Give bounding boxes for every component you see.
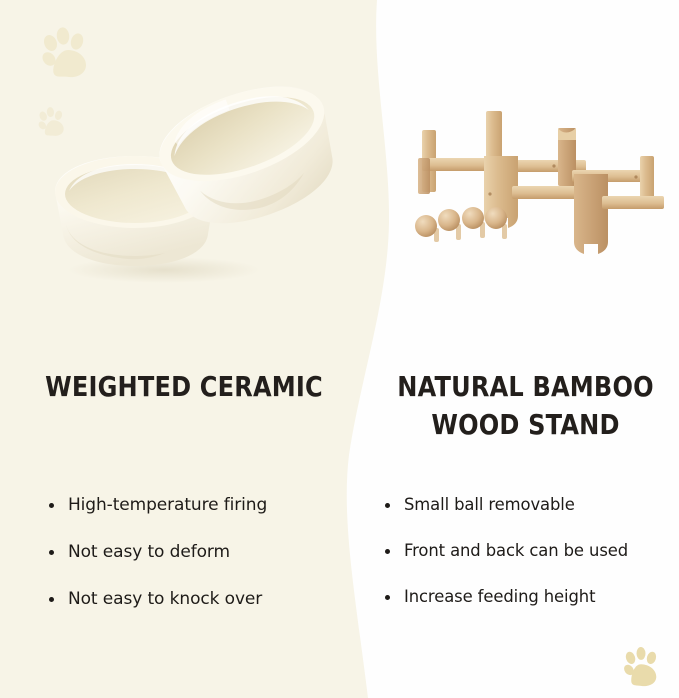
wooden-ball (462, 207, 485, 238)
bullet-dot-icon (385, 549, 390, 554)
left-panel-feature-list: High-temperature firing Not easy to defo… (46, 495, 346, 609)
bamboo-wood-stand-photo (404, 108, 666, 270)
right-panel-feature-list: Small ball removable Front and back can … (382, 495, 674, 606)
list-item-label: Not easy to knock over (68, 589, 262, 609)
right-panel-heading-line2: WOOD STAND (393, 406, 657, 444)
bullet-dot-icon (385, 595, 390, 600)
list-item-label: Front and back can be used (404, 541, 628, 560)
list-item: Front and back can be used (382, 541, 674, 560)
wooden-ball (438, 209, 461, 240)
bullet-dot-icon (49, 597, 54, 602)
list-item: Increase feeding height (382, 587, 674, 606)
list-item: Not easy to deform (46, 542, 346, 562)
wooden-ball (485, 207, 507, 239)
wooden-ball-feet (415, 207, 507, 242)
list-item-label: High-temperature firing (68, 495, 267, 515)
paw-print-icon (620, 645, 662, 690)
list-item-label: Small ball removable (404, 495, 575, 514)
ceramic-bowls-photo (36, 74, 346, 284)
bullet-dot-icon (385, 503, 390, 508)
wooden-ball (415, 215, 439, 242)
right-panel-heading: NATURAL BAMBOO WOOD STAND (393, 368, 657, 444)
list-item: Small ball removable (382, 495, 674, 514)
list-item: High-temperature firing (46, 495, 346, 515)
bullet-dot-icon (49, 503, 54, 508)
bullet-dot-icon (49, 550, 54, 555)
right-panel-heading-line1: NATURAL BAMBOO (393, 368, 657, 406)
list-item: Not easy to knock over (46, 589, 346, 609)
list-item-label: Not easy to deform (68, 542, 230, 562)
left-panel-heading: WEIGHTED CERAMIC (26, 368, 342, 406)
list-item-label: Increase feeding height (404, 587, 595, 606)
product-feature-infographic: WEIGHTED CERAMIC NATURAL BAMBOO WOOD STA… (0, 0, 679, 698)
